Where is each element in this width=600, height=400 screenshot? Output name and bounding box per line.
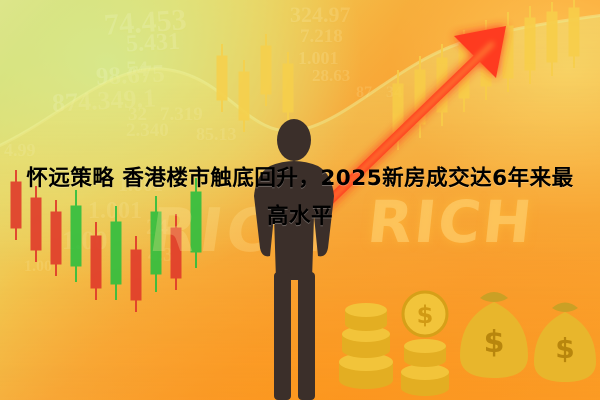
coin-stack-left [339,303,393,389]
gold-coins-and-bags: $ $ $ [330,230,600,400]
money-bag-right: $ [534,303,596,383]
svg-text:$: $ [484,325,505,360]
svg-text:$: $ [417,301,434,329]
svg-text:$: $ [555,332,574,365]
coin-stack-mid: $ [401,292,449,396]
headline-text: 怀远策略 香港楼市触底回升，2025新房成交达6年来最高水平 [0,160,600,236]
money-bag-left: $ [460,292,528,378]
news-image-canvas: 74.453324.975.4317.218541.00198.67528.63… [0,0,600,400]
